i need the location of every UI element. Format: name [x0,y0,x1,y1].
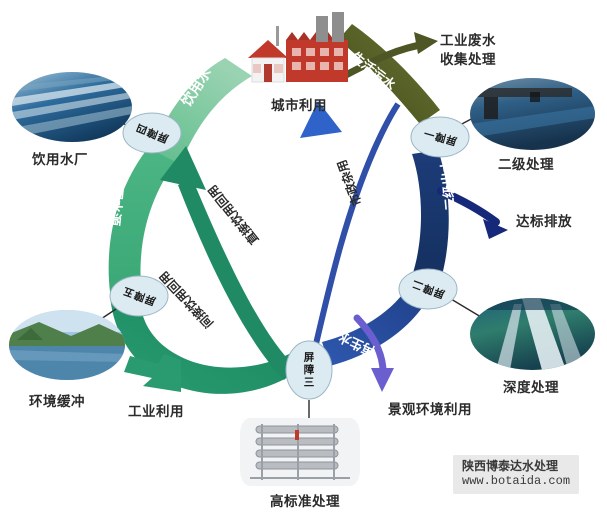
watermark-company: 陕西博泰达水处理 [462,459,570,474]
caption-environment-buffer: 环境缓冲 [29,390,85,410]
caption-industrial-use: 工业利用 [128,400,184,420]
watermark-url: www.botaida.com [462,474,570,489]
caption-urban-use: 城市利用 [271,94,327,114]
caption-drinking-water-plant: 饮用水厂 [32,148,88,168]
barrier-label-3: 屏障三 [302,351,317,389]
diagram-canvas: 屏障四 屏障一 屏障二 屏障三 屏障五 饮用水 饮用水源 间接饮用回用 直接饮用… [0,0,607,519]
caption-high-standard-treatment: 高标准处理 [270,490,340,510]
caption-secondary-treatment: 二级处理 [498,153,554,173]
barrier-nodes-layer [0,0,607,519]
caption-advanced-treatment: 深度处理 [503,376,559,396]
caption-landscape-env-use: 景观环境利用 [388,398,472,418]
watermark: 陕西博泰达水处理 www.botaida.com [453,455,579,494]
caption-industrial-wastewater: 工业废水 收集处理 [440,32,496,70]
caption-standard-discharge: 达标排放 [516,210,572,230]
